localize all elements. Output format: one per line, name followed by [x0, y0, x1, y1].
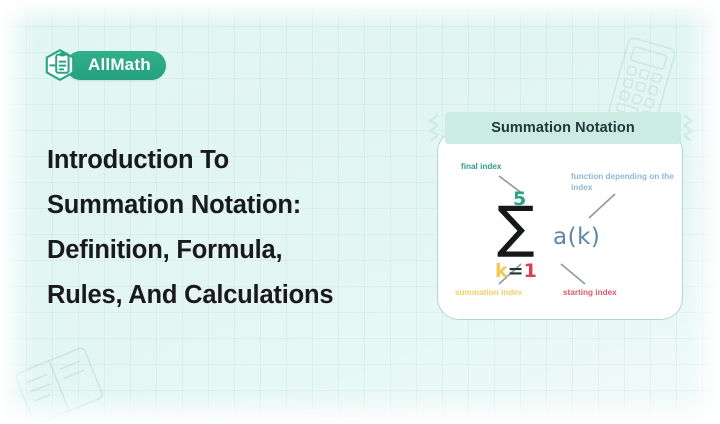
title-line-1: Introduction To [47, 138, 437, 183]
summation-notation-card: Summation Notation 5 ∑ k=1 [437, 112, 685, 322]
title-line-3: Definition, Formula, [47, 228, 437, 273]
annotation-final-index: final index [461, 162, 502, 173]
annotation-summation-index: summation index [455, 288, 522, 299]
annotation-function-index: function depending on the index [571, 172, 675, 193]
annotation-starting-index: starting index [563, 288, 617, 299]
equals-symbol: = [508, 260, 524, 282]
title-line-4: Rules, And Calculations [47, 273, 437, 318]
title-line-2: Summation Notation: [47, 183, 437, 228]
banner-canvas: AllMath Introduction To Summation Notati… [0, 0, 720, 424]
summation-index-symbol: k [495, 260, 508, 282]
clipboard-cube-icon [42, 47, 78, 83]
starting-index-value: 1 [524, 260, 537, 282]
page-title: Introduction To Summation Notation: Defi… [47, 138, 437, 318]
brand-logo[interactable]: AllMath [42, 46, 166, 84]
brand-name: AllMath [66, 51, 166, 80]
card-body: 5 ∑ k=1 a(k) final index function depend… [437, 130, 683, 320]
summand-expression: a(k) [553, 224, 600, 250]
book-icon [6, 342, 116, 424]
ribbon-notch-right-icon [683, 114, 695, 147]
lower-limit-group: k=1 [495, 260, 537, 282]
sigma-symbol: ∑ [497, 200, 535, 256]
